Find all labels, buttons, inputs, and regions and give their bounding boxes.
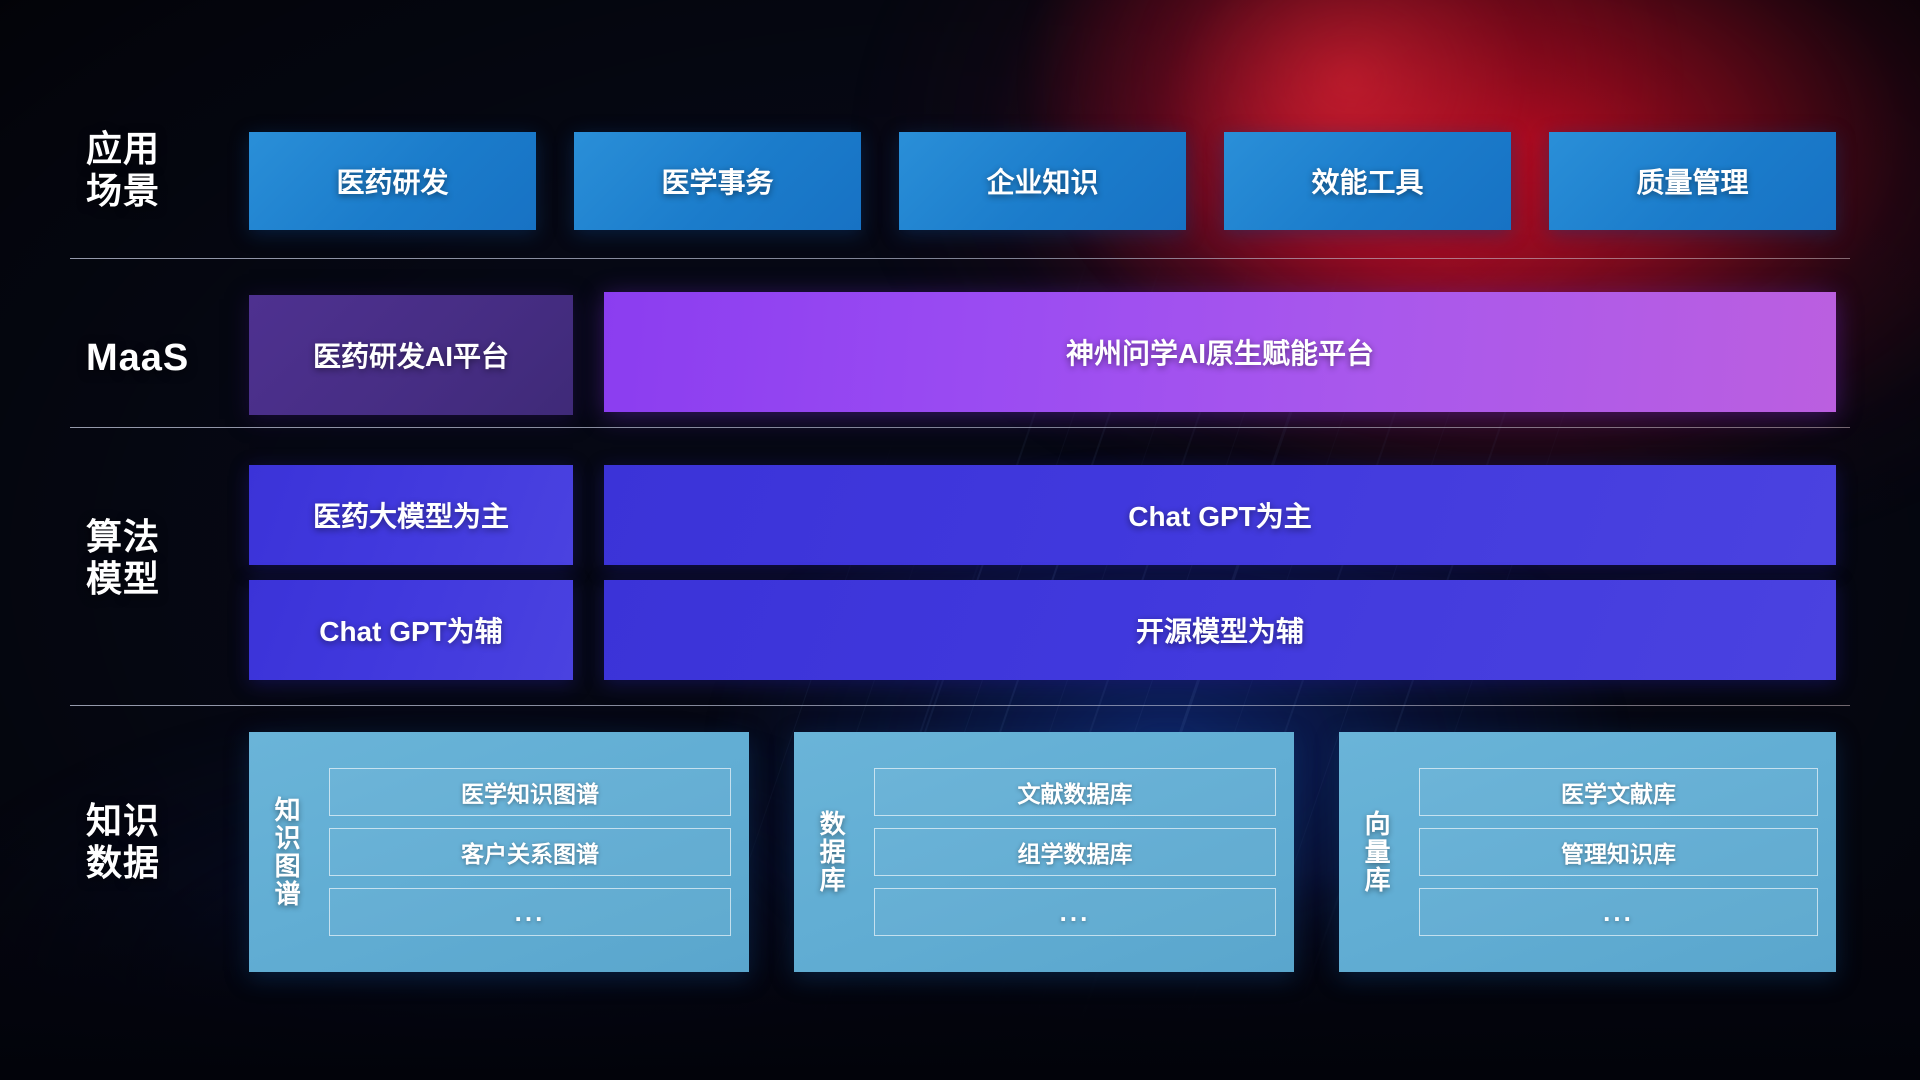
- tier-label-algorithm: 算法 模型: [86, 516, 236, 601]
- app-box-3-label: 企业知识: [986, 161, 1098, 201]
- tier-label-application-line2: 场景: [86, 170, 236, 212]
- knowledge-panel-database-items: 文献数据库 组学数据库 ...: [868, 732, 1294, 972]
- algo-box-chatgpt-secondary[interactable]: Chat GPT为辅: [249, 580, 573, 680]
- knowledge-panel-vector-vertical-label: 向量库: [1339, 732, 1413, 972]
- tier-label-maas: MaaS: [86, 336, 236, 381]
- knowledge-item-vector-2[interactable]: 管理知识库: [1419, 828, 1818, 876]
- knowledge-panel-vector-items: 医学文献库 管理知识库 ...: [1413, 732, 1836, 972]
- tier-label-algorithm-line2: 模型: [86, 558, 236, 600]
- app-box-2[interactable]: 医学事务: [574, 132, 861, 230]
- knowledge-item-database-1[interactable]: 文献数据库: [874, 768, 1276, 816]
- knowledge-panel-graph-vertical-label: 知识图谱: [249, 732, 323, 972]
- knowledge-item-graph-2[interactable]: 客户关系图谱: [329, 828, 731, 876]
- maas-box-shenzhou-wenxue-platform-label: 神州问学AI原生赋能平台: [1066, 332, 1374, 372]
- app-box-4[interactable]: 效能工具: [1224, 132, 1511, 230]
- tier-label-application: 应用 场景: [86, 128, 236, 213]
- tier-label-maas-text: MaaS: [86, 336, 236, 381]
- tier-label-application-line1: 应用: [86, 128, 236, 170]
- knowledge-item-database-3[interactable]: ...: [874, 888, 1276, 936]
- knowledge-item-database-2[interactable]: 组学数据库: [874, 828, 1276, 876]
- knowledge-panel-graph-items: 医学知识图谱 客户关系图谱 ...: [323, 732, 749, 972]
- divider-application-maas: [70, 258, 1850, 259]
- tier-label-knowledge: 知识 数据: [86, 800, 236, 885]
- app-box-1[interactable]: 医药研发: [249, 132, 536, 230]
- algo-box-chatgpt-primary-label: Chat GPT为主: [1128, 495, 1312, 535]
- knowledge-panel-graph[interactable]: 知识图谱 医学知识图谱 客户关系图谱 ...: [249, 732, 749, 972]
- knowledge-item-vector-3[interactable]: ...: [1419, 888, 1818, 936]
- knowledge-panel-vector[interactable]: 向量库 医学文献库 管理知识库 ...: [1339, 732, 1836, 972]
- app-box-5-label: 质量管理: [1636, 161, 1748, 201]
- maas-box-shenzhou-wenxue-platform[interactable]: 神州问学AI原生赋能平台: [604, 292, 1836, 412]
- tier-label-algorithm-line1: 算法: [86, 516, 236, 558]
- tier-label-knowledge-line2: 数据: [86, 842, 236, 884]
- architecture-diagram: 应用 场景 医药研发 医学事务 企业知识 效能工具 质量管理 MaaS 医药研发…: [0, 0, 1920, 1080]
- app-box-3[interactable]: 企业知识: [899, 132, 1186, 230]
- maas-box-pharma-ai-platform-label: 医药研发AI平台: [313, 335, 509, 375]
- algo-box-chatgpt-primary[interactable]: Chat GPT为主: [604, 465, 1836, 565]
- algo-box-opensource-secondary[interactable]: 开源模型为辅: [604, 580, 1836, 680]
- knowledge-item-graph-1[interactable]: 医学知识图谱: [329, 768, 731, 816]
- algo-box-pharma-primary-label: 医药大模型为主: [313, 495, 509, 535]
- app-box-5[interactable]: 质量管理: [1549, 132, 1836, 230]
- algo-box-chatgpt-secondary-label: Chat GPT为辅: [319, 610, 503, 650]
- knowledge-panel-database-vertical-label: 数据库: [794, 732, 868, 972]
- knowledge-item-vector-1[interactable]: 医学文献库: [1419, 768, 1818, 816]
- divider-algorithm-knowledge: [70, 705, 1850, 706]
- knowledge-panel-database[interactable]: 数据库 文献数据库 组学数据库 ...: [794, 732, 1294, 972]
- app-box-2-label: 医学事务: [661, 161, 773, 201]
- algo-box-pharma-primary[interactable]: 医药大模型为主: [249, 465, 573, 565]
- knowledge-item-graph-3[interactable]: ...: [329, 888, 731, 936]
- app-box-4-label: 效能工具: [1311, 161, 1423, 201]
- algo-box-opensource-secondary-label: 开源模型为辅: [1136, 610, 1304, 650]
- divider-maas-algorithm: [70, 427, 1850, 428]
- maas-box-pharma-ai-platform[interactable]: 医药研发AI平台: [249, 295, 573, 415]
- app-box-1-label: 医药研发: [336, 161, 448, 201]
- tier-label-knowledge-line1: 知识: [86, 800, 236, 842]
